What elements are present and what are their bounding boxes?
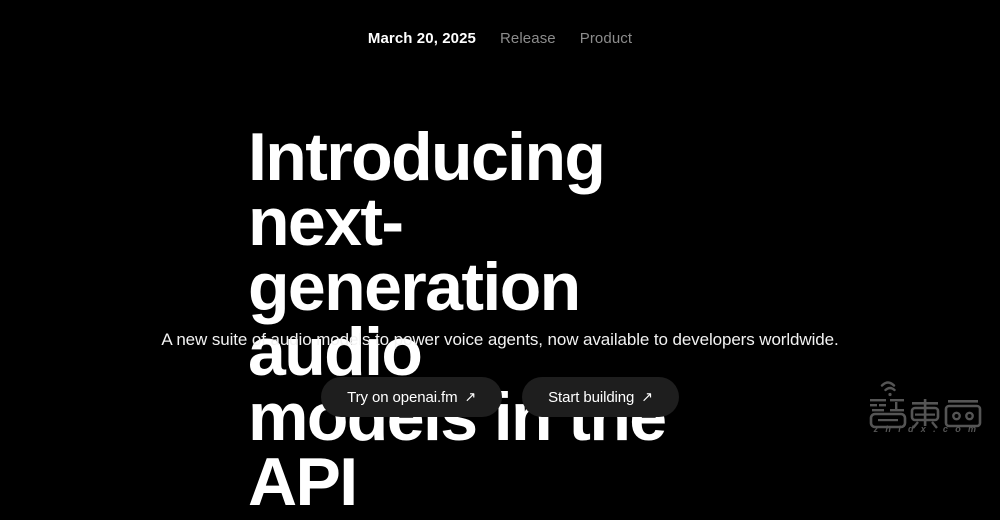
arrow-up-right-icon: ↗ (641, 390, 653, 404)
tag-product[interactable]: Product (580, 30, 632, 47)
start-building-label: Start building (548, 389, 634, 406)
headline-line-2: generation audio (248, 249, 580, 390)
article-meta: March 20, 2025 Release Product (0, 30, 1000, 47)
try-on-openai-fm-button[interactable]: Try on openai.fm ↗ (321, 377, 502, 417)
try-on-openai-fm-label: Try on openai.fm (347, 389, 457, 406)
watermark-domain-text: z h i d x . c o m (860, 424, 992, 434)
arrow-up-right-icon: ↗ (464, 390, 476, 404)
publish-date: March 20, 2025 (368, 30, 476, 47)
hero-page: March 20, 2025 Release Product Introduci… (0, 0, 1000, 444)
page-title: Introducing next- generation audio model… (248, 125, 768, 515)
tag-release[interactable]: Release (500, 30, 556, 47)
cta-button-group: Try on openai.fm ↗ Start building ↗ (0, 377, 1000, 417)
start-building-button[interactable]: Start building ↗ (522, 377, 679, 417)
headline-line-1: Introducing next- (248, 119, 604, 260)
page-subtitle: A new suite of audio models to power voi… (0, 330, 1000, 350)
